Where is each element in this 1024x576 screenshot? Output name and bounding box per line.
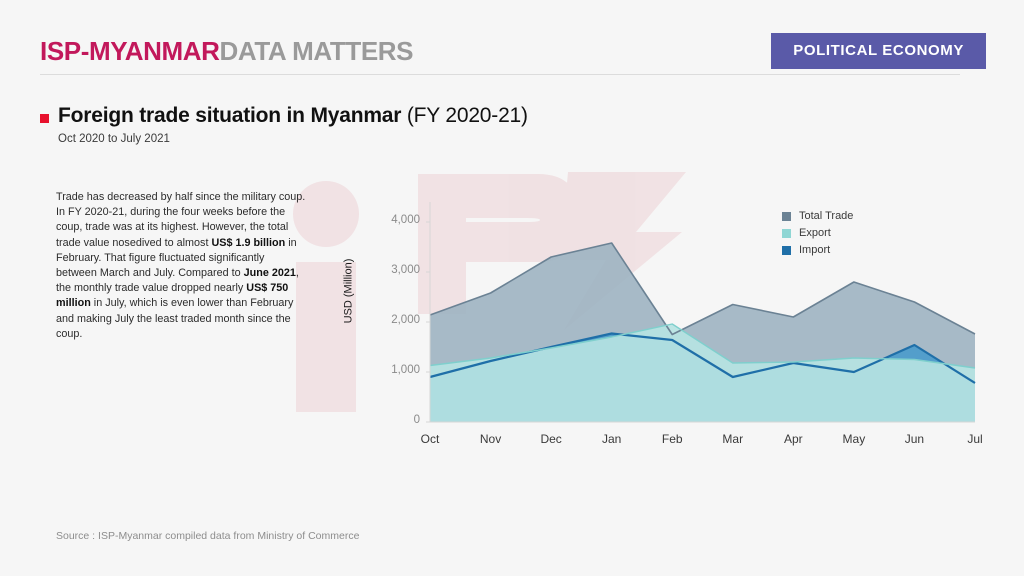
legend-swatch-icon xyxy=(782,246,791,255)
x-axis-tick-label: Jun xyxy=(884,432,944,446)
page-header: ISP-MYANMARDATA MATTERS POLITICAL ECONOM… xyxy=(0,0,1024,86)
y-axis-tick-label: 2,000 xyxy=(391,314,420,326)
legend-swatch-icon xyxy=(782,212,791,221)
blurb-bold-2: June 2021 xyxy=(244,267,296,279)
x-axis-tick-label: Mar xyxy=(703,432,763,446)
description-paragraph: Trade has decreased by half since the mi… xyxy=(56,190,306,342)
y-axis-tick-label: 4,000 xyxy=(391,214,420,226)
legend-item-label: Import xyxy=(799,244,830,256)
slide-root: ISP-MYANMARDATA MATTERS POLITICAL ECONOM… xyxy=(0,0,1024,576)
legend-item-label: Total Trade xyxy=(799,210,853,222)
trade-area-chart: USD (Million) 01,0002,0003,0004,000 OctN… xyxy=(330,180,990,470)
title-suffix-text: (FY 2020-21) xyxy=(401,104,528,127)
page-subtitle: Oct 2020 to July 2021 xyxy=(58,133,170,145)
brand-primary: ISP-MYANMAR xyxy=(40,36,220,66)
legend-item[interactable]: Total Trade xyxy=(782,210,853,222)
legend-item-label: Export xyxy=(799,227,831,239)
legend-swatch-icon xyxy=(782,229,791,238)
x-axis-tick-label: Dec xyxy=(521,432,581,446)
blurb-bold-1: US$ 1.9 billion xyxy=(211,237,285,249)
x-axis-tick-label: Jul xyxy=(945,432,1005,446)
category-badge: POLITICAL ECONOMY xyxy=(771,33,986,69)
page-title: Foreign trade situation in Myanmar (FY 2… xyxy=(40,104,528,128)
y-axis-label: USD (Million) xyxy=(342,259,354,324)
title-bullet-icon xyxy=(40,114,49,123)
chart-legend: Total TradeExportImport xyxy=(782,210,853,261)
blurb-part-4: in July, which is even lower than Februa… xyxy=(56,297,293,339)
x-axis-tick-label: Oct xyxy=(400,432,460,446)
x-axis-tick-label: Apr xyxy=(763,432,823,446)
y-axis-tick-label: 0 xyxy=(414,414,420,426)
chart-plot-area xyxy=(330,180,990,470)
y-axis-tick-label: 3,000 xyxy=(391,264,420,276)
brand-secondary: DATA MATTERS xyxy=(220,36,414,66)
brand-logo: ISP-MYANMARDATA MATTERS xyxy=(40,36,413,67)
x-axis-tick-label: Nov xyxy=(461,432,521,446)
title-text: Foreign trade situation in Myanmar (FY 2… xyxy=(58,104,528,128)
legend-item[interactable]: Import xyxy=(782,244,853,256)
legend-item[interactable]: Export xyxy=(782,227,853,239)
x-axis-tick-label: Jan xyxy=(582,432,642,446)
source-note: Source : ISP-Myanmar compiled data from … xyxy=(56,530,359,542)
x-axis-tick-label: Feb xyxy=(642,432,702,446)
header-divider xyxy=(40,74,960,75)
title-main-text: Foreign trade situation in Myanmar xyxy=(58,104,401,127)
y-axis-tick-label: 1,000 xyxy=(391,364,420,376)
x-axis-tick-label: May xyxy=(824,432,884,446)
